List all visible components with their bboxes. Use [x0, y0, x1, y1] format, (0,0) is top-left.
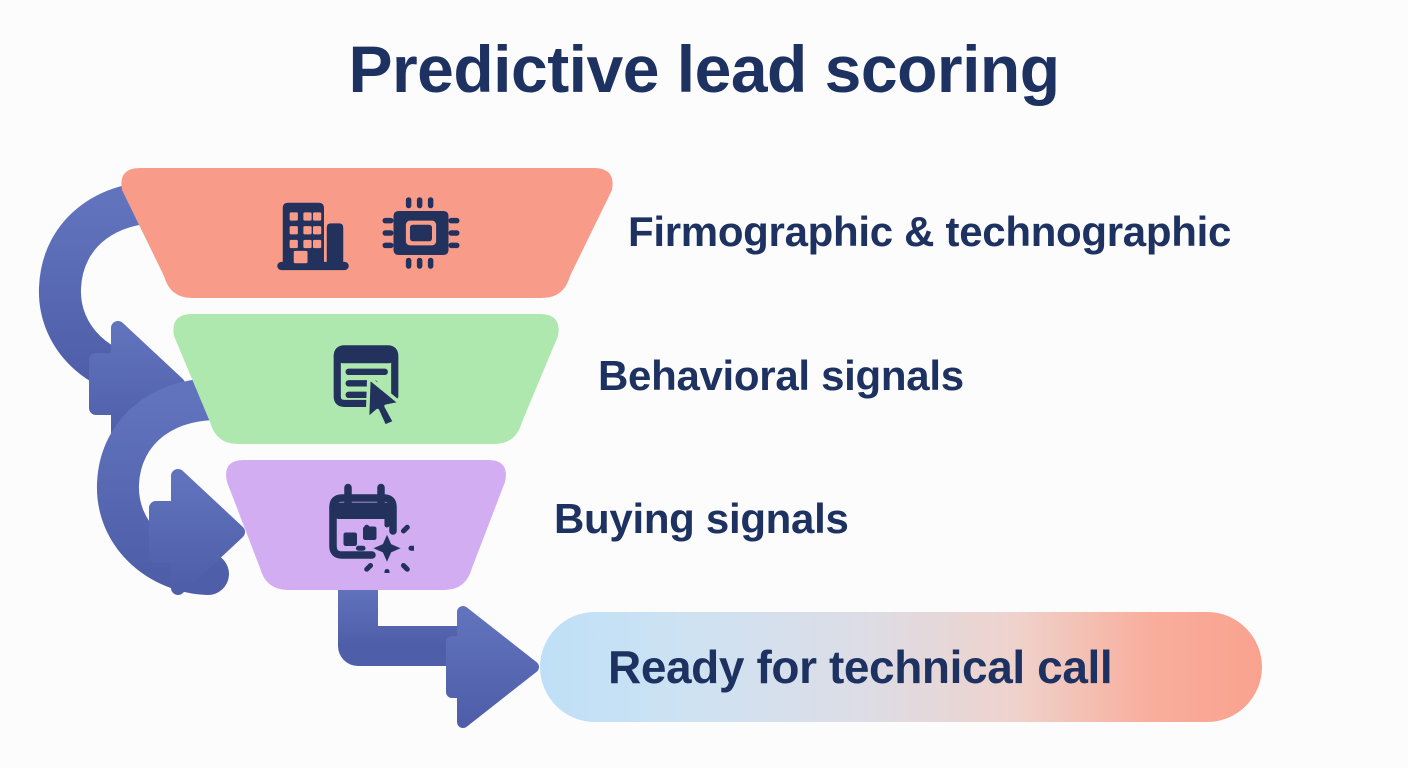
- funnel-stage-1-label: Firmographic & technographic: [628, 208, 1231, 256]
- funnel-stage-2-label: Behavioral signals: [598, 352, 964, 400]
- funnel-stage-behavioral[interactable]: [170, 314, 562, 444]
- document-cursor-icon: [320, 333, 412, 425]
- outcome-pill[interactable]: Ready for technical call: [540, 612, 1262, 722]
- funnel-stage-2-icons: [320, 333, 412, 425]
- infographic-canvas: Predictive lead scoring: [0, 0, 1408, 768]
- funnel-stage-firmographic[interactable]: [118, 168, 616, 298]
- outcome-arrow: [358, 586, 533, 722]
- cpu-chip-icon: [377, 189, 465, 277]
- funnel-stage-3-label: Buying signals: [554, 495, 849, 543]
- funnel-stage-3-icons: [318, 477, 414, 573]
- calendar-sparkle-icon: [318, 477, 414, 573]
- page-title: Predictive lead scoring: [0, 36, 1408, 102]
- outcome-label: Ready for technical call: [608, 640, 1112, 694]
- office-building-icon: [269, 189, 357, 277]
- funnel-stage-buying[interactable]: [222, 460, 510, 590]
- funnel-stage-1-icons: [269, 189, 465, 277]
